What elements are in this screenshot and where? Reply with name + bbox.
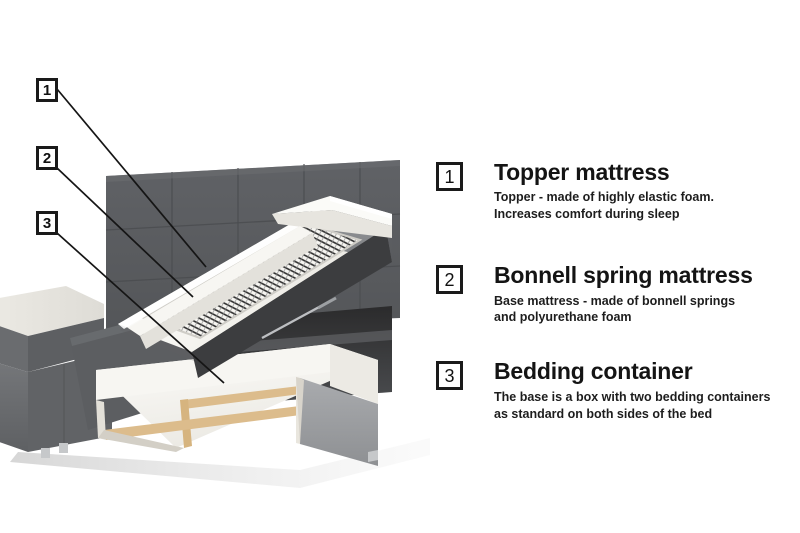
legend-desc-2-line2: and polyurethane foam <box>494 309 796 326</box>
infographic-canvas: 1 2 3 1 Topper mattress Topper - made of… <box>0 0 800 533</box>
legend-title-1: Topper mattress <box>494 160 796 184</box>
drawer-foot <box>368 450 378 462</box>
bed-foot <box>59 443 68 453</box>
legend-desc-2-line1: Base mattress - made of bonnell springs <box>494 293 796 310</box>
legend-desc-1-line2: Increases comfort during sleep <box>494 206 796 223</box>
callout-box-1[interactable]: 1 <box>36 78 58 102</box>
legend-text-1: Topper mattress Topper - made of highly … <box>494 160 796 223</box>
callout-box-2[interactable]: 2 <box>36 146 58 170</box>
legend-desc-3-line1: The base is a box with two bedding conta… <box>494 389 796 406</box>
legend-item-3: 3 Bedding container The base is a box wi… <box>436 359 796 422</box>
legend-title-2: Bonnell spring mattress <box>494 263 796 287</box>
legend-item-2: 2 Bonnell spring mattress Base mattress … <box>436 263 796 326</box>
legend-title-3: Bedding container <box>494 359 796 383</box>
legend-item-1: 1 Topper mattress Topper - made of highl… <box>436 160 796 223</box>
legend-text-2: Bonnell spring mattress Base mattress - … <box>494 263 796 326</box>
legend-panel: 1 Topper mattress Topper - made of highl… <box>436 160 796 444</box>
bed-foot <box>41 448 50 458</box>
callout-box-3[interactable]: 3 <box>36 211 58 235</box>
bed-illustration <box>0 0 430 500</box>
legend-desc-3-line2: as standard on both sides of the bed <box>494 406 796 423</box>
legend-number-3: 3 <box>436 361 463 390</box>
legend-text-3: Bedding container The base is a box with… <box>494 359 796 422</box>
legend-desc-1-line1: Topper - made of highly elastic foam. <box>494 189 796 206</box>
legend-number-1: 1 <box>436 162 463 191</box>
legend-number-2: 2 <box>436 265 463 294</box>
